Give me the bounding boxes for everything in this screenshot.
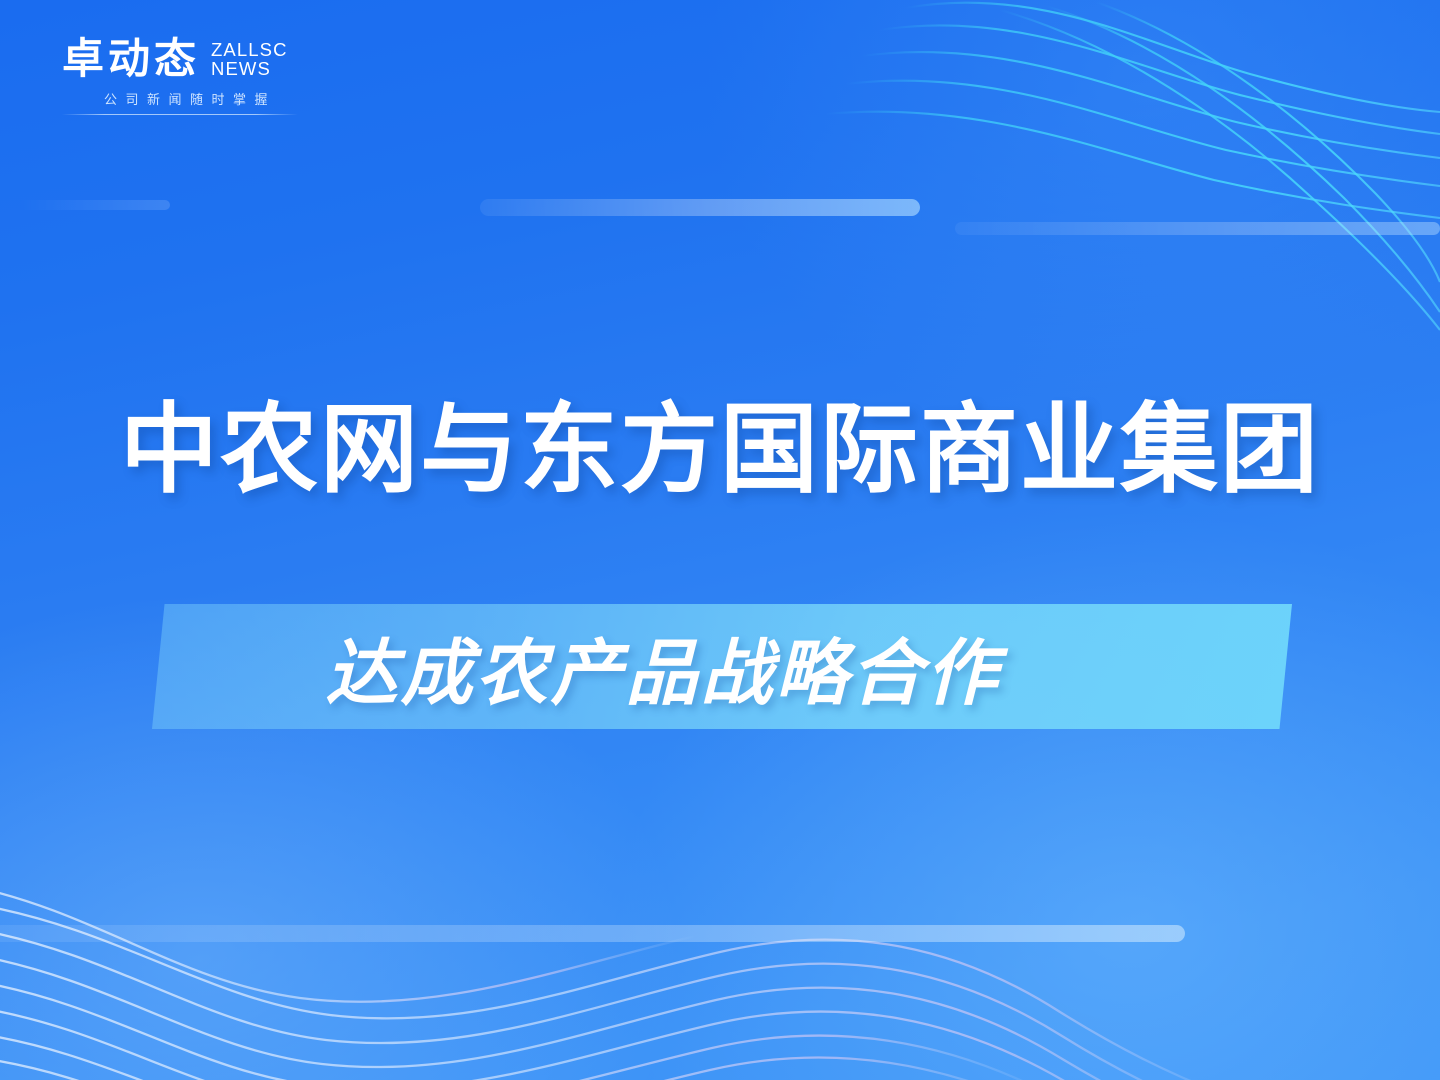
brand-logo-row: 卓动态 ZALLSC NEWS xyxy=(62,38,312,80)
decorative-pill-bar xyxy=(955,222,1440,235)
decorative-pill-bar xyxy=(0,925,1185,942)
brand-logo: 卓动态 ZALLSC NEWS 公司新闻随时掌握 xyxy=(62,38,312,115)
brand-divider xyxy=(62,114,298,115)
decorative-pill-bar xyxy=(20,200,170,210)
subtitle: 达成农产品战略合作 xyxy=(152,604,1292,729)
brand-logo-en-line2: NEWS xyxy=(211,60,288,79)
wave-group-bottom-left xyxy=(0,886,1286,1080)
glow-bottom-right xyxy=(580,480,1440,1080)
headline: 中农网与东方国际商业集团 xyxy=(0,398,1440,504)
poster-canvas: 卓动态 ZALLSC NEWS 公司新闻随时掌握 中农网与东方国际商业集团 达成… xyxy=(0,0,1440,1080)
decorative-pill-bar xyxy=(480,199,920,216)
subtitle-text: 达成农产品战略合作 xyxy=(325,614,1000,719)
decorative-waves xyxy=(0,0,1440,1080)
wave-group-top-right xyxy=(826,2,1440,330)
brand-logo-cn: 卓动态 xyxy=(62,38,200,80)
brand-logo-en: ZALLSC NEWS xyxy=(211,41,288,80)
headline-line-1: 中农网与东方国际商业集团 xyxy=(120,398,1320,504)
brand-tagline: 公司新闻随时掌握 xyxy=(62,89,312,108)
